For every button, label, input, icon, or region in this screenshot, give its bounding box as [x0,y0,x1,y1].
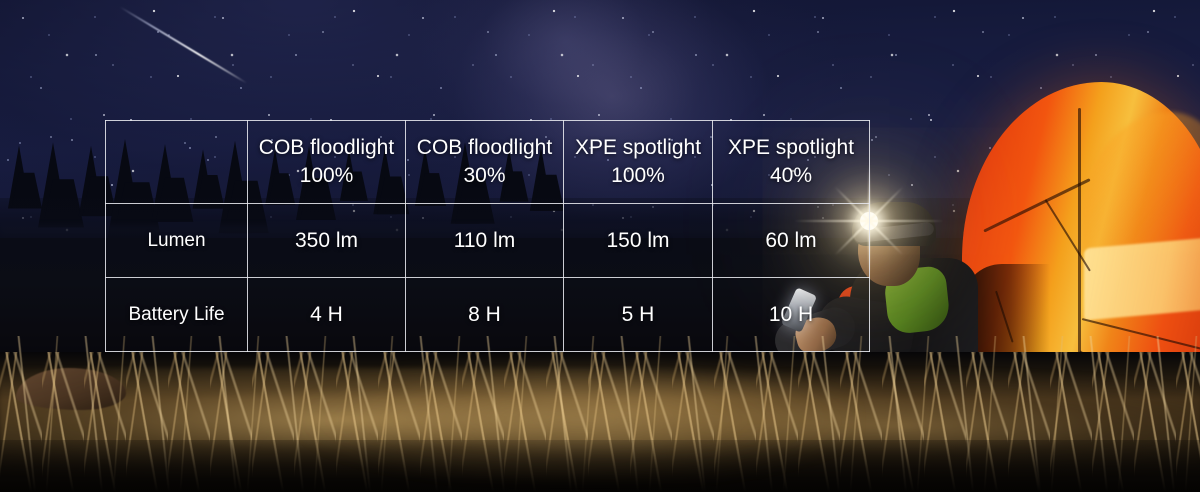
column-header-xpe-40: XPE spotlight 40% [713,121,870,204]
cell-battery-xpe-40: 10 H [713,278,870,352]
cell-lumen-xpe-100: 150 lm [564,204,713,278]
column-header-power: 30% [463,164,505,187]
row-label-battery-life: Battery Life [106,278,248,352]
column-header-name: COB floodlight [259,136,394,159]
table-body: Lumen 350 lm 110 lm 150 lm 60 lm Battery… [106,204,870,352]
grass-shadow-base [0,440,1200,492]
cell-battery-cob-30: 8 H [406,278,564,352]
tent-bright-panel [1084,236,1200,321]
cell-lumen-cob-30: 110 lm [406,204,564,278]
column-header-name: XPE spotlight [728,136,854,159]
cell-lumen-cob-100: 350 lm [248,204,406,278]
cell-battery-xpe-100: 5 H [564,278,713,352]
column-header-cob-30: COB floodlight 30% [406,121,564,204]
table-header: COB floodlight 100% COB floodlight 30% X… [106,121,870,204]
camping-scene-image: COB floodlight 100% COB floodlight 30% X… [0,0,1200,492]
column-header-xpe-100: XPE spotlight 100% [564,121,713,204]
row-label-lumen: Lumen [106,204,248,278]
column-header-power: 40% [770,164,812,187]
cell-battery-cob-100: 4 H [248,278,406,352]
column-header-name: COB floodlight [417,136,552,159]
table-row: Lumen 350 lm 110 lm 150 lm 60 lm [106,204,870,278]
spec-comparison-table: COB floodlight 100% COB floodlight 30% X… [105,120,870,352]
column-header-cob-100: COB floodlight 100% [248,121,406,204]
column-header-name: XPE spotlight [575,136,701,159]
table-corner-cell [106,121,248,204]
table-row: Battery Life 4 H 8 H 5 H 10 H [106,278,870,352]
table-header-row: COB floodlight 100% COB floodlight 30% X… [106,121,870,204]
column-header-power: 100% [611,164,665,187]
column-header-power: 100% [300,164,354,187]
cell-lumen-xpe-40: 60 lm [713,204,870,278]
